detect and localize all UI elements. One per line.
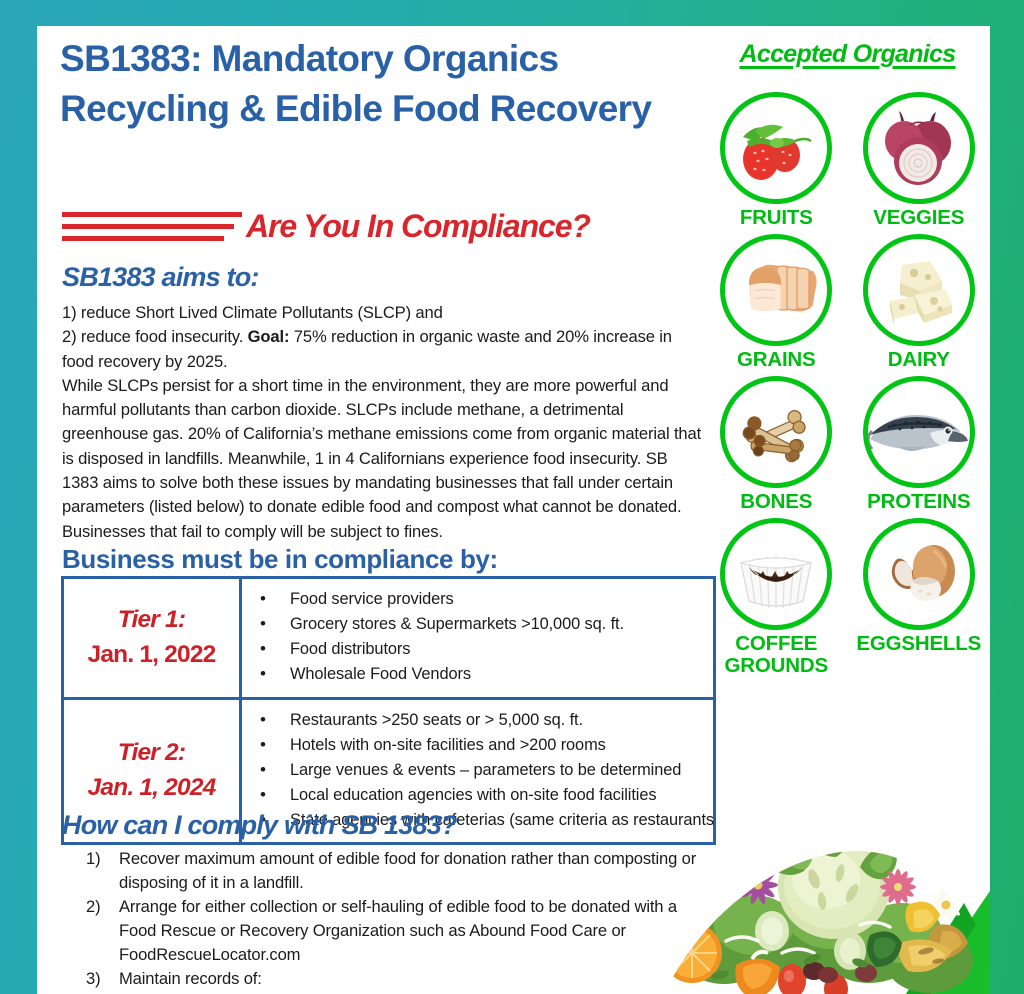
organics-item-grains: GRAINS (705, 234, 848, 371)
comply-steps-list: 1) Recover maximum amount of edible food… (86, 847, 706, 994)
red-rule-3 (62, 236, 224, 241)
organics-item-veggies: VEGGIES (848, 92, 991, 229)
tier-1-criteria: Food service providers Grocery stores & … (242, 579, 713, 697)
aims-goal-label: Goal: (248, 327, 290, 346)
aims-body: 1) reduce Short Lived Climate Pollutants… (62, 301, 702, 544)
aims-heading: SB1383 aims to: (62, 262, 259, 293)
cheese-icon (863, 234, 975, 346)
tier-1-date: Jan. 1, 2022 (88, 638, 216, 673)
accepted-organics-grid: FRUITS (705, 92, 990, 677)
organics-item-fruits: FRUITS (705, 92, 848, 229)
organics-label: VEGGIES (848, 207, 991, 229)
step-number: 2) (86, 895, 119, 966)
organics-label: GRAINS (705, 349, 848, 371)
list-item: Wholesale Food Vendors (260, 662, 709, 687)
step-number: 1) (86, 847, 119, 894)
step-text: Maintain records of: (119, 967, 706, 991)
aims-paragraph: While SLCPs persist for a short time in … (62, 374, 702, 544)
compliance-table: Tier 1: Jan. 1, 2022 Food service provid… (61, 576, 716, 845)
coffee-filter-icon (720, 518, 832, 630)
organics-label: BONES (705, 491, 848, 513)
infographic-card: SB1383: Mandatory Organics Recycling & E… (37, 26, 990, 994)
organics-label: EGGSHELLS (848, 633, 991, 655)
tier-2-date: Jan. 1, 2024 (88, 771, 216, 806)
eggshells-icon (863, 518, 975, 630)
list-item: Large venues & events – parameters to be… (260, 758, 714, 783)
page-title: SB1383: Mandatory Organics Recycling & E… (60, 26, 680, 133)
organics-label: DAIRY (848, 349, 991, 371)
list-item: Restaurants >250 seats or > 5,000 sq. ft… (260, 708, 714, 733)
aims-line-2-pre: 2) reduce food insecurity. (62, 327, 248, 346)
organics-label: FRUITS (705, 207, 848, 229)
step-text: Recover maximum amount of edible food fo… (119, 847, 706, 894)
organics-item-proteins: PROTEINS (848, 376, 991, 513)
list-item: Grocery stores & Supermarkets >10,000 sq… (260, 612, 709, 637)
left-content-column: SB1383: Mandatory Organics Recycling & E… (60, 26, 720, 994)
organics-label: PROTEINS (848, 491, 991, 513)
step-number: 3) (86, 967, 119, 991)
comply-heading: How can I comply with SB 1383? (62, 810, 457, 841)
fish-icon (863, 376, 975, 488)
red-rule-decoration (62, 212, 242, 248)
organics-item-bones: BONES (705, 376, 848, 513)
accepted-organics-title: Accepted Organics (705, 40, 990, 69)
red-rule-1 (62, 212, 242, 217)
accepted-organics-column: Accepted Organics (705, 26, 990, 994)
list-item: Local education agencies with on-site fo… (260, 783, 714, 808)
list-item: 2) Arrange for either collection or self… (86, 895, 706, 966)
tier-2-label: Tier 2: (118, 736, 185, 771)
organics-item-coffee-grounds: COFFEE GROUNDS (705, 518, 848, 677)
onions-icon (863, 92, 975, 204)
list-item: 1) Recover maximum amount of edible food… (86, 847, 706, 894)
organics-label: COFFEE GROUNDS (705, 633, 848, 677)
step-text: Arrange for either collection or self-ha… (119, 895, 706, 966)
list-item: 3) Maintain records of: (86, 967, 706, 991)
organics-item-eggshells: EGGSHELLS (848, 518, 991, 677)
tier-1-key: Tier 1: Jan. 1, 2022 (64, 579, 242, 697)
compliance-table-heading: Business must be in compliance by: (62, 544, 498, 575)
table-row: Tier 1: Jan. 1, 2022 Food service provid… (64, 579, 713, 697)
strawberries-icon (720, 92, 832, 204)
bones-icon (720, 376, 832, 488)
list-item: Food distributors (260, 637, 709, 662)
organics-item-dairy: DAIRY (848, 234, 991, 371)
tier-1-label: Tier 1: (118, 603, 185, 638)
compliance-tagline: Are You In Compliance? (246, 208, 590, 245)
bread-loaf-icon (720, 234, 832, 346)
red-rule-2 (62, 224, 234, 229)
aims-line-1: 1) reduce Short Lived Climate Pollutants… (62, 301, 702, 325)
list-item: Hotels with on-site facilities and >200 … (260, 733, 714, 758)
list-item: Food service providers (260, 587, 709, 612)
aims-line-2: 2) reduce food insecurity. Goal: 75% red… (62, 325, 702, 374)
